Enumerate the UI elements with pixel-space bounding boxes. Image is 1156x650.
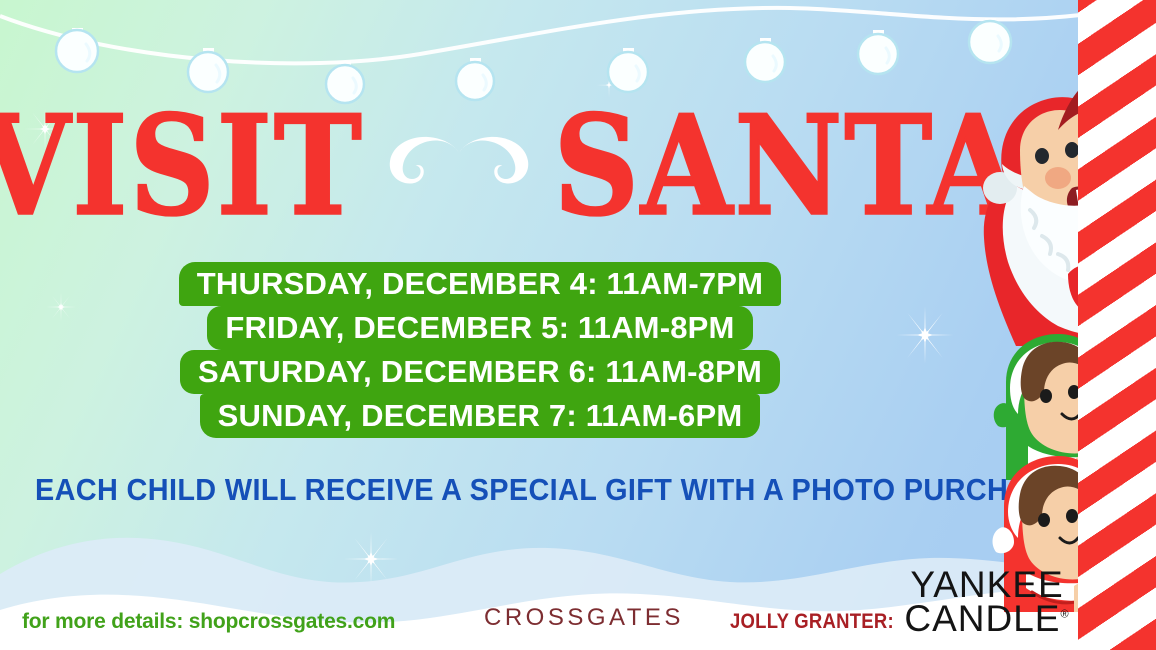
mustache-icon — [384, 135, 534, 197]
footer-bar: for more details: shopcrossgates.com CRO… — [0, 580, 1156, 650]
trademark-symbol: ® — [1061, 609, 1070, 621]
crossgates-logo: CROSSGATES — [484, 604, 684, 632]
details-url[interactable]: for more details: shopcrossgates.com — [22, 610, 395, 634]
schedule-line: THURSDAY, DECEMBER 4: 11AM-7PM — [179, 262, 781, 306]
yankee-candle-line2: CANDLE® — [900, 602, 1074, 636]
schedule-line: SUNDAY, DECEMBER 7: 11AM-6PM — [200, 394, 761, 438]
santa-character — [972, 78, 1094, 346]
gift-tagline: EACH CHILD WILL RECEIVE A SPECIAL GIFT W… — [35, 472, 965, 508]
schedule-line: FRIDAY, DECEMBER 5: 11AM-8PM — [207, 306, 752, 350]
schedule-list: THURSDAY, DECEMBER 4: 11AM-7PM FRIDAY, D… — [0, 262, 960, 438]
santa-visit-poster: VISIT SANTA THURSDAY, DECEMBER 4: 11AM-7… — [0, 0, 1156, 650]
schedule-line: SATURDAY, DECEMBER 6: 11AM-8PM — [180, 350, 780, 394]
headline: VISIT SANTA — [0, 96, 1000, 236]
yankee-candle-line1: YANKEE — [900, 568, 1074, 602]
headline-word-santa: SANTA — [554, 98, 1022, 235]
jolly-granter-label: JOLLY GRANTER: — [730, 610, 894, 634]
candy-stripe-pole — [1078, 0, 1156, 650]
yankee-candle-logo: YANKEE CANDLE® — [900, 568, 1074, 636]
headline-word-visit: VISIT — [0, 98, 364, 235]
